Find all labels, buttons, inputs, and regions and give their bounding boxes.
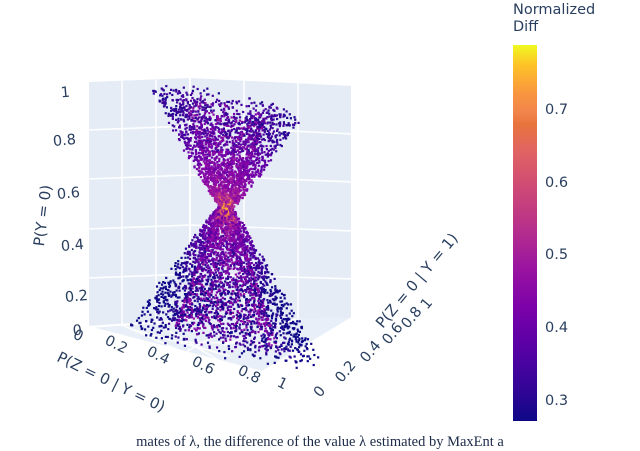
colorbar-tick-label: 0.4 — [545, 320, 568, 336]
colorbar-tick-label: 0.7 — [545, 102, 568, 118]
figure-3d-scatter: 10.80.60.40.20 00.20.40.60.81 00.20.40.6… — [0, 0, 640, 451]
figure-caption: mates of λ, the difference of the value … — [0, 434, 640, 451]
colorbar-tick-label: 0.3 — [545, 393, 568, 409]
z-axis-tick-label: 0.8 — [52, 132, 76, 150]
colorbar[interactable]: Normalized Diff 0.70.60.50.40.3 — [505, 0, 640, 430]
colorbar-gradient — [513, 45, 537, 421]
z-axis-tick-label: 0.6 — [56, 185, 80, 203]
z-axis-tick-label: 0.4 — [60, 237, 84, 255]
colorbar-tick-label: 0.6 — [545, 175, 568, 191]
colorbar-tick-label: 0.5 — [545, 247, 568, 263]
z-axis-tick-label: 0.2 — [64, 288, 88, 306]
z-axis-tick-label: 1 — [60, 85, 71, 102]
colorbar-title: Normalized Diff — [513, 2, 633, 36]
